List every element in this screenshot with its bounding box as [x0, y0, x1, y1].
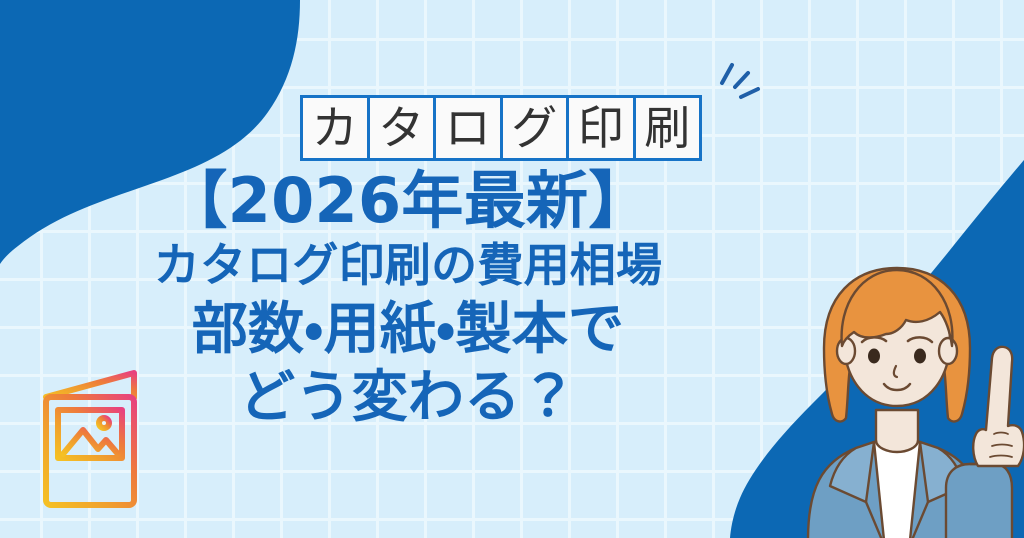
brochure-sun-dot: [99, 418, 109, 428]
title-char-box-6: 刷: [633, 95, 703, 161]
sparkle-line-2: [735, 73, 748, 87]
woman-pointing-illustration: [770, 250, 1024, 538]
woman-eye-left: [868, 349, 880, 364]
banner-canvas: カ タ ロ グ 印 刷 【2026年最新】 カタログ印刷の費用相場 部数・用紙・…: [0, 0, 1024, 538]
woman-ear-left: [837, 338, 855, 364]
sparkle-icon: [700, 55, 770, 125]
sparkle-line-1: [722, 65, 732, 83]
title-char-box-3: ロ: [433, 95, 503, 161]
title-char-box-2: タ: [367, 95, 437, 161]
woman-ear-right: [939, 338, 957, 364]
boxed-title-row: カ タ ロ グ 印 刷: [300, 95, 702, 161]
title-char-box-1: カ: [300, 95, 370, 161]
brochure-mountain: [63, 430, 118, 454]
catalog-brochure-icon: [30, 360, 180, 520]
sparkle-line-3: [741, 89, 758, 97]
woman-neck: [876, 410, 918, 452]
title-char-box-5: 印: [566, 95, 636, 161]
woman-raised-arm: [946, 464, 1012, 538]
title-char-box-4: グ: [500, 95, 570, 161]
headline-line-1: 【2026年最新】: [0, 170, 1024, 232]
woman-pointing-hand: [973, 347, 1024, 466]
woman-eye-right: [914, 349, 926, 364]
